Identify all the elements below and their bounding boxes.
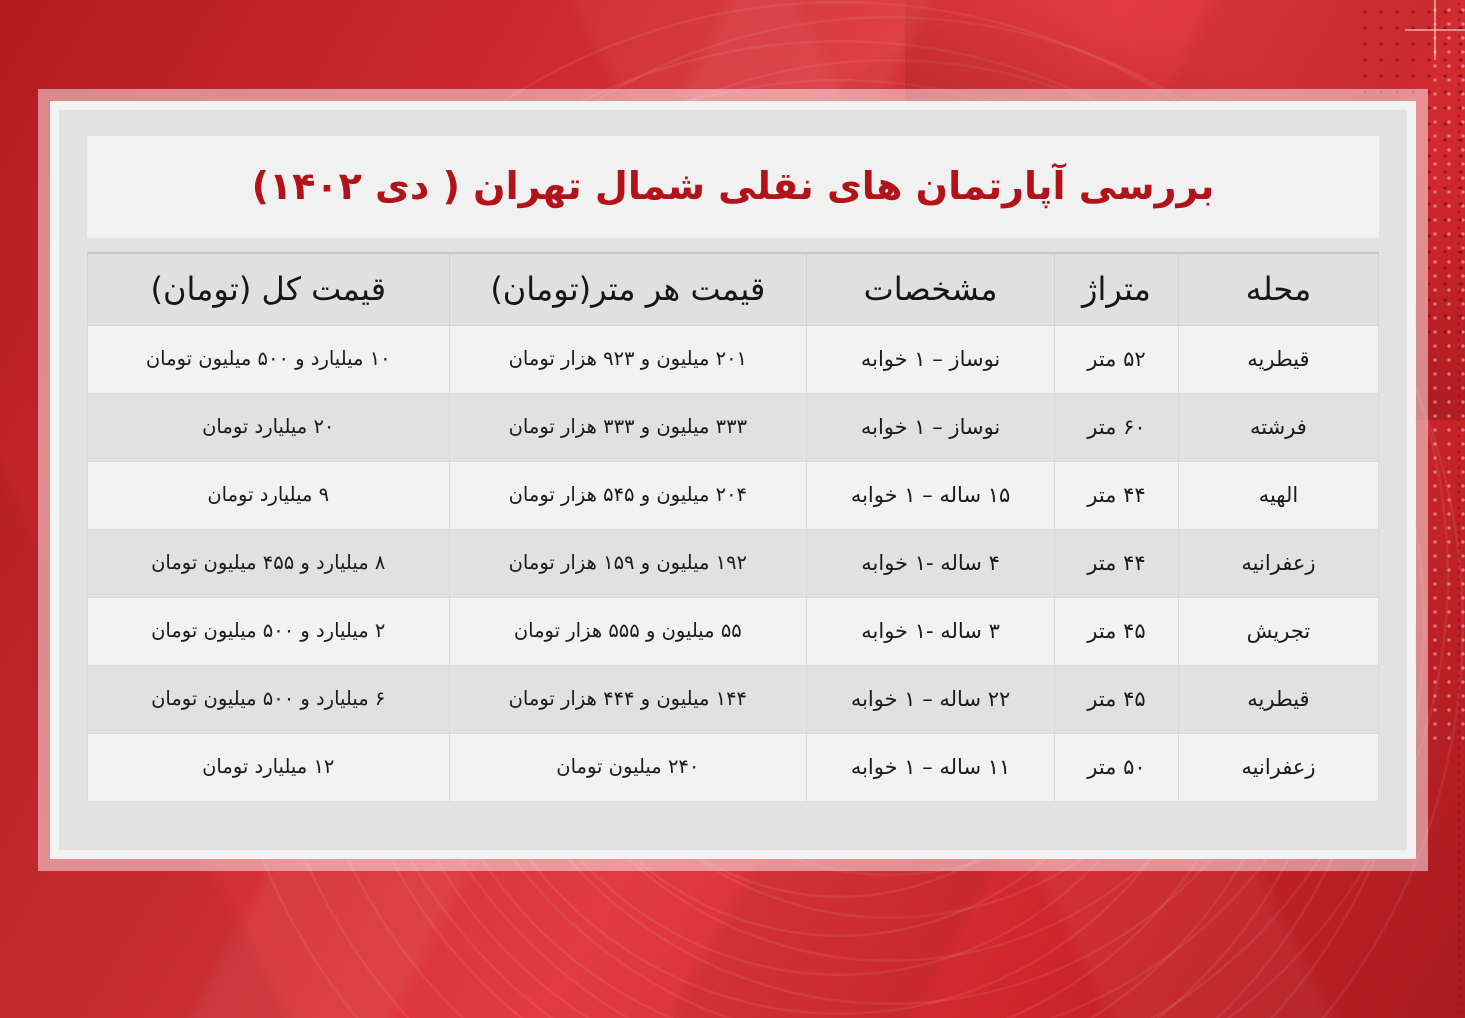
- cell-total-price: ۱۲ میلیارد تومان: [88, 733, 450, 801]
- content-frame-outer: بررسی آپارتمان های نقلی شمال تهران ( دی …: [38, 89, 1428, 871]
- table-container: محله متراژ مشخصات قیمت هر متر(تومان) قیم…: [87, 252, 1379, 832]
- cell-total-price: ۱۰ میلیارد و ۵۰۰ میلیون تومان: [88, 325, 450, 393]
- cell-price-per-meter: ۱۴۴ میلیون و ۴۴۴ هزار تومان: [449, 665, 807, 733]
- cell-price-per-meter: ۵۵ میلیون و ۵۵۵ هزار تومان: [449, 597, 807, 665]
- cell-neighborhood: الهیه: [1178, 461, 1378, 529]
- cell-specifications: ۳ ساله -۱ خوابه: [807, 597, 1055, 665]
- table-row: تجریش۴۵ متر۳ ساله -۱ خوابه۵۵ میلیون و ۵۵…: [88, 597, 1379, 665]
- cell-total-price: ۹ میلیارد تومان: [88, 461, 450, 529]
- cell-neighborhood: زعفرانیه: [1178, 529, 1378, 597]
- cell-price-per-meter: ۲۰۴ میلیون و ۵۴۵ هزار تومان: [449, 461, 807, 529]
- table-body: قیطریه۵۲ مترنوساز – ۱ خوابه۲۰۱ میلیون و …: [88, 325, 1379, 801]
- cell-total-price: ۸ میلیارد و ۴۵۵ میلیون تومان: [88, 529, 450, 597]
- cell-area: ۶۰ متر: [1054, 393, 1178, 461]
- cell-specifications: نوساز – ۱ خوابه: [807, 393, 1055, 461]
- cell-price-per-meter: ۲۴۰ میلیون تومان: [449, 733, 807, 801]
- table-row: فرشته۶۰ مترنوساز – ۱ خوابه۳۳۳ میلیون و ۳…: [88, 393, 1379, 461]
- cell-neighborhood: زعفرانیه: [1178, 733, 1378, 801]
- cell-specifications: ۲۲ ساله – ۱ خوابه: [807, 665, 1055, 733]
- cell-area: ۴۴ متر: [1054, 461, 1178, 529]
- content-frame-inner: بررسی آپارتمان های نقلی شمال تهران ( دی …: [50, 101, 1416, 859]
- cell-price-per-meter: ۲۰۱ میلیون و ۹۲۳ هزار تومان: [449, 325, 807, 393]
- column-header-mahalle: محله: [1178, 253, 1378, 325]
- cell-neighborhood: فرشته: [1178, 393, 1378, 461]
- column-header-metraj: متراژ: [1054, 253, 1178, 325]
- cell-total-price: ۲ میلیارد و ۵۰۰ میلیون تومان: [88, 597, 450, 665]
- cell-price-per-meter: ۱۹۲ میلیون و ۱۵۹ هزار تومان: [449, 529, 807, 597]
- cell-area: ۴۴ متر: [1054, 529, 1178, 597]
- cell-area: ۵۲ متر: [1054, 325, 1178, 393]
- dot-grid-right-icon: [1455, 0, 1465, 1018]
- slide-canvas: بررسی آپارتمان های نقلی شمال تهران ( دی …: [0, 0, 1465, 1018]
- content-panel: بررسی آپارتمان های نقلی شمال تهران ( دی …: [59, 110, 1407, 850]
- cell-specifications: ۱۵ ساله – ۱ خوابه: [807, 461, 1055, 529]
- column-header-total-price: قیمت کل (تومان): [88, 253, 450, 325]
- table-header-row: محله متراژ مشخصات قیمت هر متر(تومان) قیم…: [88, 253, 1379, 325]
- title-container: بررسی آپارتمان های نقلی شمال تهران ( دی …: [87, 136, 1379, 238]
- cell-specifications: نوساز – ۱ خوابه: [807, 325, 1055, 393]
- page-title: بررسی آپارتمان های نقلی شمال تهران ( دی …: [234, 163, 1233, 211]
- table-header: محله متراژ مشخصات قیمت هر متر(تومان) قیم…: [88, 253, 1379, 325]
- cell-area: ۵۰ متر: [1054, 733, 1178, 801]
- cell-area: ۴۵ متر: [1054, 597, 1178, 665]
- cell-total-price: ۶ میلیارد و ۵۰۰ میلیون تومان: [88, 665, 450, 733]
- cell-specifications: ۴ ساله -۱ خوابه: [807, 529, 1055, 597]
- cell-neighborhood: قیطریه: [1178, 325, 1378, 393]
- cell-neighborhood: تجریش: [1178, 597, 1378, 665]
- column-header-specs: مشخصات: [807, 253, 1055, 325]
- table-row: زعفرانیه۴۴ متر۴ ساله -۱ خوابه۱۹۲ میلیون …: [88, 529, 1379, 597]
- cell-total-price: ۲۰ میلیارد تومان: [88, 393, 450, 461]
- dot-grid-left-icon: [1425, 0, 1465, 740]
- cell-area: ۴۵ متر: [1054, 665, 1178, 733]
- crosshair-icon: [1405, 0, 1465, 60]
- table-row: الهیه۴۴ متر۱۵ ساله – ۱ خوابه۲۰۴ میلیون و…: [88, 461, 1379, 529]
- apartments-table: محله متراژ مشخصات قیمت هر متر(تومان) قیم…: [87, 252, 1379, 802]
- cell-specifications: ۱۱ ساله – ۱ خوابه: [807, 733, 1055, 801]
- cell-price-per-meter: ۳۳۳ میلیون و ۳۳۳ هزار تومان: [449, 393, 807, 461]
- cell-neighborhood: قیطریه: [1178, 665, 1378, 733]
- table-row: قیطریه۴۵ متر۲۲ ساله – ۱ خوابه۱۴۴ میلیون …: [88, 665, 1379, 733]
- table-row: قیطریه۵۲ مترنوساز – ۱ خوابه۲۰۱ میلیون و …: [88, 325, 1379, 393]
- column-header-price-per-meter: قیمت هر متر(تومان): [449, 253, 807, 325]
- table-row: زعفرانیه۵۰ متر۱۱ ساله – ۱ خوابه۲۴۰ میلیو…: [88, 733, 1379, 801]
